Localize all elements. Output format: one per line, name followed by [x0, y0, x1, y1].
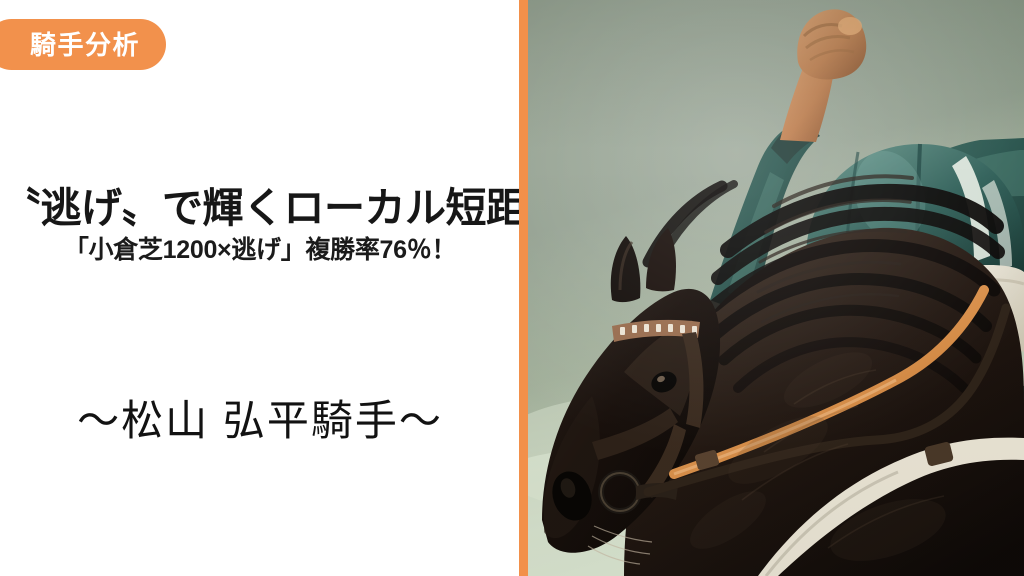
left-text-panel: 騎手分析 〝逃げ〟で輝くローカル短距離 「小倉芝1200×逃げ」複勝率76％！ … [0, 0, 520, 576]
slide-canvas: 騎手分析 〝逃げ〟で輝くローカル短距離 「小倉芝1200×逃げ」複勝率76％！ … [0, 0, 1024, 576]
category-badge: 騎手分析 [0, 19, 166, 70]
jockey-name-block: 〜松山 弘平騎手〜 [0, 398, 520, 444]
headline-subtitle: 「小倉芝1200×逃げ」複勝率76％！ [0, 237, 520, 265]
jockey-photo [528, 0, 1024, 576]
jockey-photo-illustration [528, 0, 1024, 576]
headline-main: 〝逃げ〟で輝くローカル短距離 [0, 186, 520, 230]
jockey-name: 〜松山 弘平騎手〜 [0, 398, 520, 444]
category-badge-label: 騎手分析 [30, 32, 140, 58]
headline-block: 〝逃げ〟で輝くローカル短距離 「小倉芝1200×逃げ」複勝率76％！ [0, 186, 520, 265]
vertical-divider [519, 0, 528, 576]
